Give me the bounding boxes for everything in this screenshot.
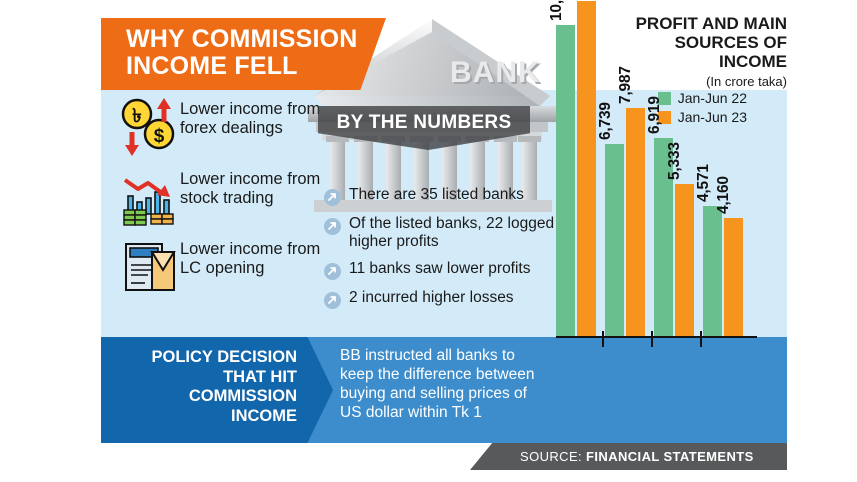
category-label: CommissionIncome <box>654 348 698 443</box>
arrow-circle-icon <box>324 292 341 309</box>
arrow-circle-icon <box>324 218 341 235</box>
policy-heading-line2: THAT HIT <box>117 368 297 388</box>
bullet-list: There are 35 listed banks Of the listed … <box>324 186 559 318</box>
chart-plot-area: 10,87611,7116,7397,9876,9195,3334,5714,1… <box>556 0 761 337</box>
bar-series1: 4,571 <box>703 206 722 337</box>
bar-value-label: 4,571 <box>695 164 713 202</box>
list-item: 2 incurred higher losses <box>324 289 559 309</box>
bar-series2: 11,711 <box>577 1 596 337</box>
bar-chart: PROFIT AND MAIN SOURCES OF INCOME (In cr… <box>545 0 787 443</box>
chart-category-labels: Net interestincomeInvestmentincomeCommis… <box>556 344 761 443</box>
bar-value-label: 6,919 <box>646 96 664 134</box>
source-value: FINANCIAL STATEMENTS <box>586 449 754 464</box>
bar-value-label: 7,987 <box>617 66 635 104</box>
bar-value-label: 6,739 <box>597 102 615 140</box>
lc-document-icon <box>118 236 180 298</box>
chart-baseline <box>556 336 757 338</box>
reason-item: Lower income from stock trading <box>118 166 328 228</box>
page-title-line1: WHY COMMISSION <box>126 26 358 53</box>
bar-series2: 7,987 <box>626 108 645 337</box>
infographic-canvas: BANK BANK BY THE NUMBERS WHY COMMISSION … <box>0 0 857 482</box>
reason-label: Lower income from forex dealings <box>180 96 328 138</box>
list-item: There are 35 listed banks <box>324 186 559 206</box>
arrow-circle-icon <box>324 189 341 206</box>
policy-heading-line3: COMMISSION <box>117 387 297 407</box>
reason-item: Lower income from LC opening <box>118 236 328 298</box>
reason-label: Lower income from LC opening <box>180 236 328 278</box>
bar-series2: 4,160 <box>724 218 743 337</box>
source-prefix: SOURCE: <box>520 449 582 464</box>
stock-decline-icon <box>118 166 180 228</box>
svg-text:BANK: BANK <box>450 56 541 89</box>
list-item-text: There are 35 listed banks <box>349 186 524 204</box>
reason-item: ৳ $ Lower income from forex dealings <box>118 96 328 158</box>
list-item-text: Of the listed banks, 22 logged higher pr… <box>349 215 559 251</box>
bar-value-label: 10,876 <box>548 0 566 21</box>
page-title-line2: INCOME FELL <box>126 53 358 80</box>
category-label: Netprofit <box>703 348 747 443</box>
bar-series2: 5,333 <box>675 184 694 337</box>
bar-series1: 6,739 <box>605 144 624 337</box>
svg-text:$: $ <box>154 126 165 147</box>
reason-list: ৳ $ Lower income from forex dealings <box>118 96 328 306</box>
policy-heading-line4: INCOME <box>117 407 297 427</box>
source-text: SOURCE: FINANCIAL STATEMENTS <box>520 449 754 464</box>
by-the-numbers-label: BY THE NUMBERS <box>318 112 530 134</box>
list-item: 11 banks saw lower profits <box>324 260 559 280</box>
svg-text:৳: ৳ <box>132 106 141 127</box>
list-item-text: 11 banks saw lower profits <box>349 260 531 278</box>
list-item-text: 2 incurred higher losses <box>349 289 514 307</box>
by-the-numbers-banner: BY THE NUMBERS <box>318 106 530 150</box>
forex-exchange-icon: ৳ $ <box>118 96 180 158</box>
reason-label: Lower income from stock trading <box>180 166 328 208</box>
page-title: WHY COMMISSION INCOME FELL <box>126 26 358 80</box>
category-label: Investmentincome <box>605 348 649 443</box>
policy-heading-box: POLICY DECISION THAT HIT COMMISSION INCO… <box>101 337 333 443</box>
policy-heading: POLICY DECISION THAT HIT COMMISSION INCO… <box>117 348 297 426</box>
list-item: Of the listed banks, 22 logged higher pr… <box>324 215 559 251</box>
policy-note: BB instructed all banks to keep the diff… <box>340 346 545 422</box>
source-bar: SOURCE: FINANCIAL STATEMENTS <box>470 443 787 470</box>
bar-value-label: 5,333 <box>666 142 684 180</box>
category-label: Net interestincome <box>556 348 600 443</box>
policy-heading-line1: POLICY DECISION <box>117 348 297 368</box>
header-banner: WHY COMMISSION INCOME FELL <box>101 18 386 90</box>
arrow-circle-icon <box>324 263 341 280</box>
bar-value-label: 4,160 <box>715 176 733 214</box>
bar-series1: 10,876 <box>556 25 575 337</box>
